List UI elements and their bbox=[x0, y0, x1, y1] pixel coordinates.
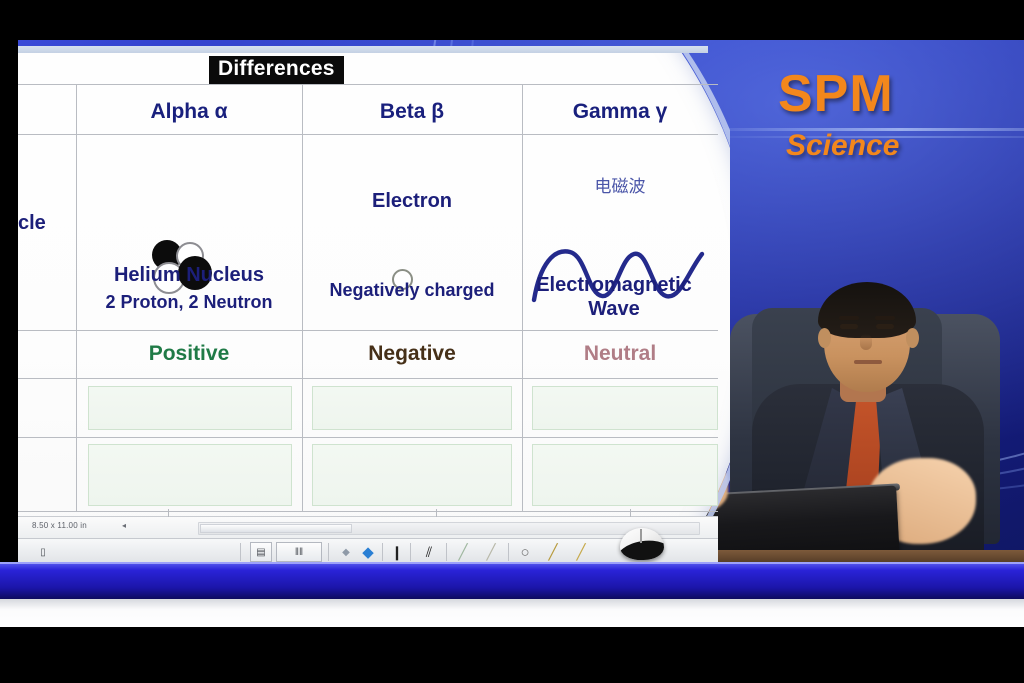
alpha-particle-composition: 2 Proton, 2 Neutron bbox=[76, 292, 302, 313]
placeholder-box-r3c3[interactable] bbox=[532, 386, 718, 430]
tool-separator-1 bbox=[240, 543, 241, 561]
tool-separator-2 bbox=[328, 543, 329, 561]
placeholder-box-r3c1[interactable] bbox=[88, 386, 292, 430]
gamma-charge: Neutral bbox=[522, 342, 718, 366]
video-frame: SPM Science Differences bbox=[0, 0, 1024, 683]
table-hline-0 bbox=[18, 84, 718, 85]
color-swatch[interactable]: ◆ bbox=[358, 542, 378, 562]
program-title: SPM bbox=[778, 70, 978, 119]
letterbox-top bbox=[0, 0, 1024, 40]
computer-mouse bbox=[620, 528, 664, 560]
program-subtitle: Science bbox=[786, 129, 978, 163]
ellipse-button[interactable]: ○ bbox=[514, 542, 536, 562]
beta-particle-name: Electron bbox=[302, 190, 522, 213]
tool-separator-6 bbox=[508, 543, 509, 561]
presenter-hair bbox=[818, 282, 916, 338]
placeholder-box-r4c2[interactable] bbox=[312, 444, 512, 506]
beta-charge: Negative bbox=[302, 342, 522, 366]
nose bbox=[860, 334, 872, 350]
stroke-button[interactable]: ╱ bbox=[480, 542, 502, 562]
status-marker: ◂ bbox=[122, 521, 126, 530]
column-header-gamma: Gamma γ bbox=[522, 100, 718, 124]
ear-left bbox=[818, 328, 831, 348]
gamma-chinese-label: 电磁波 bbox=[522, 172, 718, 197]
gamma-name-line2: Wave bbox=[506, 298, 722, 321]
thin-line-button[interactable]: ╱ bbox=[452, 542, 474, 562]
tool-separator-3 bbox=[382, 543, 383, 561]
letterbox-bottom bbox=[0, 627, 1024, 683]
grid-button[interactable]: ‖‖ bbox=[276, 542, 322, 562]
pen-button[interactable]: ╱ bbox=[542, 542, 564, 562]
presenter bbox=[700, 262, 1024, 562]
alpha-charge: Positive bbox=[76, 342, 302, 366]
horizontal-scrollbar[interactable] bbox=[198, 522, 700, 535]
comparison-table[interactable]: Alpha α Beta β Gamma γ cle Helium Nucleu… bbox=[18, 84, 718, 512]
table-hline-5 bbox=[18, 511, 718, 512]
lower-blue-band bbox=[0, 562, 1024, 599]
mouse-button-split bbox=[640, 529, 642, 543]
beta-particle-charge: Negatively charged bbox=[302, 280, 522, 301]
table-hline-1 bbox=[18, 134, 718, 135]
gamma-name-line1: Electromagnetic bbox=[506, 274, 722, 297]
highlighter-button[interactable]: ╱ bbox=[570, 542, 592, 562]
ruler-tick-3 bbox=[630, 509, 631, 517]
row-label-particle: cle bbox=[18, 212, 76, 235]
document-icon[interactable]: ▯ bbox=[32, 542, 54, 562]
eye-right bbox=[876, 324, 894, 329]
ear-right bbox=[906, 328, 919, 348]
table-hline-4 bbox=[18, 437, 718, 438]
ruler-tick-1 bbox=[168, 509, 169, 517]
status-bar: 8.50 x 11.00 in ◂ bbox=[18, 516, 718, 539]
tool-separator-4 bbox=[410, 543, 411, 561]
eye-left bbox=[840, 324, 858, 329]
placeholder-box-r4c1[interactable] bbox=[88, 444, 292, 506]
column-header-beta: Beta β bbox=[302, 100, 522, 124]
double-line-button[interactable]: ⫽ bbox=[416, 542, 442, 562]
column-header-alpha: Alpha α bbox=[76, 100, 302, 124]
table-hline-2 bbox=[18, 330, 718, 331]
letterbox-left bbox=[0, 40, 18, 562]
shape-fill-button[interactable]: ◆ bbox=[336, 542, 356, 562]
scrollbar-thumb[interactable] bbox=[200, 524, 352, 533]
alpha-particle-name: Helium Nucleus bbox=[76, 264, 302, 287]
slide-panel: Differences Alpha α Beta β Gamma γ bbox=[18, 46, 730, 562]
mouse-body-dark bbox=[620, 537, 664, 560]
tool-strip[interactable]: ▯ ▤ ‖‖ ◆ ◆ ❙ ⫽ ╱ ╱ ○ ╱ ╱ bbox=[18, 538, 718, 562]
tool-separator-5 bbox=[446, 543, 447, 561]
program-logo: SPM Science bbox=[778, 70, 978, 190]
blue-band-highlight bbox=[0, 562, 1024, 564]
placeholder-box-r4c3[interactable] bbox=[532, 444, 718, 506]
window-title-strip bbox=[18, 46, 708, 53]
table-hline-3 bbox=[18, 378, 718, 379]
desk-surface bbox=[700, 550, 1024, 562]
eyebrow-left bbox=[839, 316, 859, 320]
lower-white-band bbox=[0, 599, 1024, 627]
page-size-label: 8.50 x 11.00 in bbox=[32, 521, 87, 530]
slide-title: Differences bbox=[209, 56, 344, 84]
mouth bbox=[854, 360, 882, 364]
eyebrow-right bbox=[875, 316, 895, 320]
align-button[interactable]: ▤ bbox=[250, 542, 272, 562]
placeholder-box-r3c2[interactable] bbox=[312, 386, 512, 430]
presentation-slide[interactable]: Differences Alpha α Beta β Gamma γ bbox=[18, 46, 730, 516]
ruler-tick-2 bbox=[436, 509, 437, 517]
line-weight-button[interactable]: ❙ bbox=[388, 542, 406, 562]
